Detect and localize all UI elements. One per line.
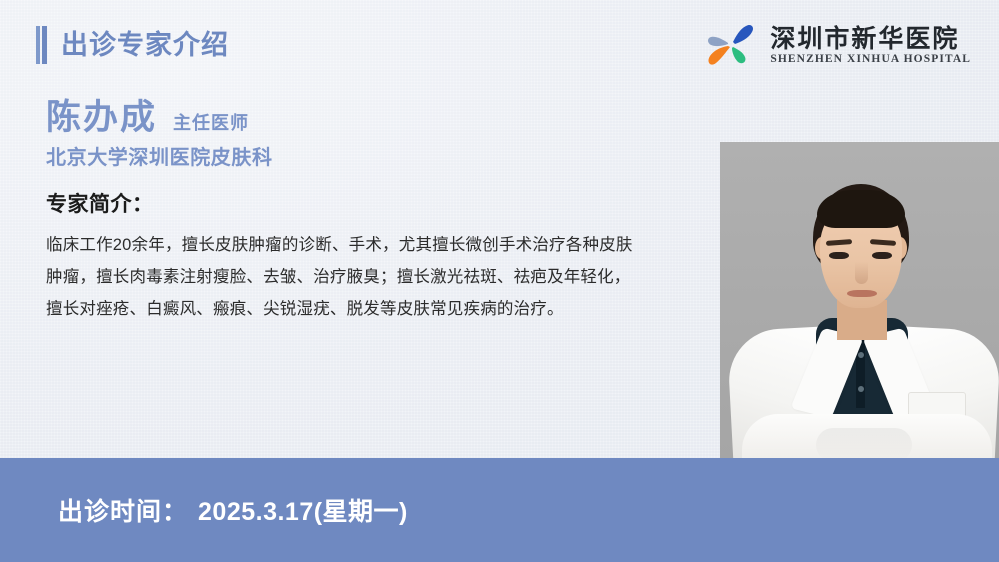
doctor-portrait-photo xyxy=(720,142,999,460)
expert-introduction-poster: 出诊专家介绍 深圳市新华医院 SHENZHEN XINHUA HOSPITAL … xyxy=(0,0,999,562)
schedule-label: 出诊时间： xyxy=(58,492,188,528)
page-title: 出诊专家介绍 xyxy=(61,32,229,59)
page-title-block: 出诊专家介绍 xyxy=(36,26,229,64)
shirt-button xyxy=(858,352,864,358)
doctor-affiliation: 北京大学深圳医院皮肤科 xyxy=(46,146,273,170)
hospital-logo-text: 深圳市新华医院 SHENZHEN XINHUA HOSPITAL xyxy=(770,26,971,66)
bio-body: 临床工作20余年，擅长皮肤肿瘤的诊断、手术，尤其擅长微创手术治疗各种皮肤 肿瘤，… xyxy=(46,229,706,325)
hospital-name-en: SHENZHEN XINHUA HOSPITAL xyxy=(770,54,971,66)
eye-right xyxy=(872,252,892,259)
doctor-name: 陈办成 xyxy=(46,100,157,137)
doctor-identity: 陈办成 主任医师 北京大学深圳医院皮肤科 xyxy=(46,100,273,170)
bio-line: 肿瘤，擅长肉毒素注射瘦脸、去皱、治疗腋臭；擅长激光祛斑、祛疤及年轻化， xyxy=(46,261,706,293)
schedule-block: 出诊时间： 2025.3.17(星期一) xyxy=(58,492,408,528)
schedule-bar: 出诊时间： 2025.3.17(星期一) xyxy=(0,458,999,562)
schedule-value: 2025.3.17(星期一) xyxy=(198,492,408,528)
arm-seam xyxy=(816,428,912,460)
hair-fringe xyxy=(817,190,905,228)
hospital-name-cn: 深圳市新华医院 xyxy=(770,26,971,52)
bio-line: 擅长对痤疮、白癜风、瘢痕、尖锐湿疣、脱发等皮肤常见疾病的治疗。 xyxy=(46,293,706,325)
poster-header: 出诊专家介绍 深圳市新华医院 SHENZHEN XINHUA HOSPITAL xyxy=(0,0,999,96)
hospital-logo: 深圳市新华医院 SHENZHEN XINHUA HOSPITAL xyxy=(706,20,971,72)
doctor-name-row: 陈办成 主任医师 xyxy=(46,100,273,137)
doctor-portrait xyxy=(720,142,999,460)
nose xyxy=(855,262,868,284)
expert-bio-section: 专家简介： 临床工作20余年，擅长皮肤肿瘤的诊断、手术，尤其擅长微创手术治疗各种… xyxy=(46,192,706,325)
bio-heading: 专家简介： xyxy=(46,192,706,217)
title-bar-marker-icon xyxy=(36,26,47,64)
shirt-button xyxy=(858,386,864,392)
pinwheel-logo-icon xyxy=(706,20,758,72)
mouth xyxy=(847,290,877,297)
bio-line: 临床工作20余年，擅长皮肤肿瘤的诊断、手术，尤其擅长微创手术治疗各种皮肤 xyxy=(46,229,706,261)
doctor-rank: 主任医师 xyxy=(173,114,249,137)
eye-left xyxy=(829,252,849,259)
